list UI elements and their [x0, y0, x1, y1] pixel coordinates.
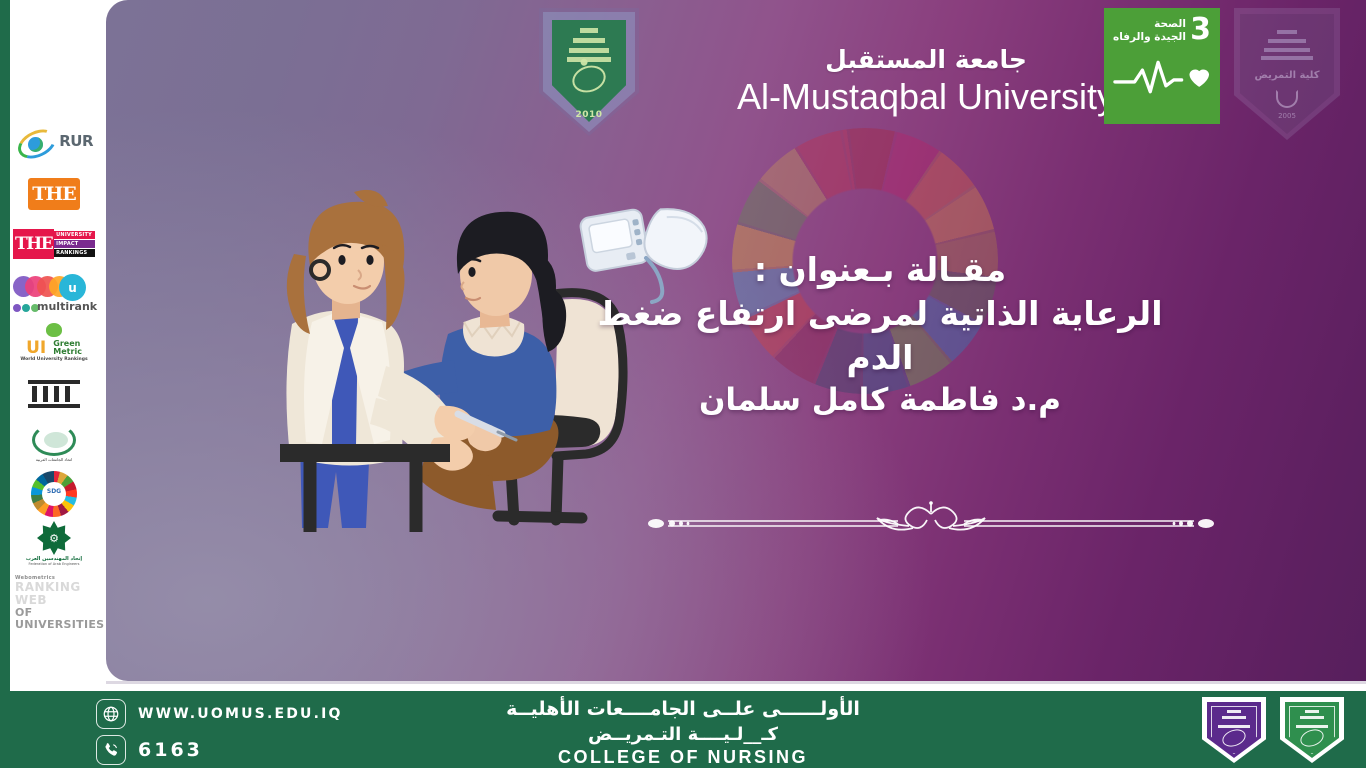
phone-icon [96, 735, 126, 765]
sidebar-logo-greenmetric[interactable]: UI Green Metric World University Ranking… [13, 322, 95, 366]
title-line-2: الرعاية الذاتية لمرضى ارتفاع ضغط الدم [570, 292, 1190, 380]
title-line-1: مقـالة بـعنوان : [570, 248, 1190, 292]
sdg3-title-line1: الصحة [1113, 18, 1186, 31]
footer-website-row[interactable]: WWW.UOMUS.EDU.IQ [96, 699, 396, 729]
footer-phone: 6163 [138, 739, 203, 761]
footer-contact-block: WWW.UOMUS.EDU.IQ 6163 [96, 699, 396, 768]
sidebar-logo-the-impact[interactable]: THE UNIVERSITY IMPACT RANKINGS [13, 222, 95, 266]
arab-union-label: اتحاد الجامعات العربية [19, 457, 89, 462]
footer-tagline: الأولــــــى علــى الجامــــعات الأهليــ… [383, 697, 983, 723]
poster-root: RUR THE THE UNIVERSITY IMPACT RANKINGS [0, 0, 1366, 768]
ziggurat-icon [1218, 710, 1250, 728]
globe-www-icon [96, 699, 126, 729]
footer-seals [1202, 697, 1344, 763]
webometrics-bot-label: OF UNIVERSITIES [15, 607, 96, 631]
the-impact-bars-icon: UNIVERSITY IMPACT RANKINGS [54, 229, 95, 259]
multirank-u-icon: u [59, 274, 86, 301]
footer-center-text: الأولــــــى علــى الجامــــعات الأهليــ… [383, 697, 983, 768]
ziggurat-icon [1261, 30, 1313, 60]
main-panel: 2010 جامعة المستقبل Al-Mustaqbal Univers… [106, 0, 1366, 681]
nursing-seal-label: كلية التمريض [1234, 70, 1340, 81]
nursing-college-seal-header: كلية التمريض 2005 [1234, 8, 1340, 140]
sidebar-logo-multirank[interactable]: u multirank [13, 272, 95, 316]
seal-year: 2010 [539, 110, 639, 120]
sdg3-number: 3 [1190, 16, 1211, 44]
sidebar-logo-arab-union[interactable]: اتحاد الجامعات العربية [13, 422, 95, 466]
footer-college-ar: كـ__لـيــــة التـمريــض [383, 723, 983, 746]
impact-line-2: IMPACT [54, 240, 95, 248]
multirank-label: multirank [37, 300, 97, 313]
greenmetric-tree-icon [46, 323, 62, 337]
left-green-spine [0, 0, 10, 691]
rur-label: RUR [59, 132, 93, 150]
ziggurat-icon [1296, 710, 1328, 728]
article-title-block: مقـالة بـعنوان : الرعاية الذاتية لمرضى ا… [570, 248, 1190, 421]
sdg3-title-line2: الجيدة والرفاه [1113, 31, 1186, 44]
arab-engineers-label-en: Federation of Arab Engineers [23, 562, 85, 566]
footer-college-en: COLLEGE OF NURSING [383, 746, 983, 768]
university-seal-footer [1280, 697, 1344, 763]
footer-phone-row[interactable]: 6163 [96, 735, 396, 765]
sidebar-logo-pillars[interactable] [13, 372, 95, 416]
sdg-wheel-label: SDG [31, 488, 77, 495]
nursing-seal-year: 2005 [1234, 112, 1340, 120]
sidebar-logo-sdg-wheel[interactable]: SDG [13, 472, 95, 516]
sidebar-logo-rur[interactable]: RUR [13, 122, 95, 166]
footer-website: WWW.UOMUS.EDU.IQ [138, 706, 343, 722]
title-line-3: م.د فاطمة كامل سلمان [570, 380, 1190, 421]
the-impact-label: THE [13, 229, 54, 259]
multirank-minidots-icon [13, 304, 39, 312]
wreath-icon [32, 424, 76, 456]
the-label: THE [32, 183, 76, 205]
university-seal: 2010 [539, 8, 639, 136]
heartbeat-ecg-icon [1113, 55, 1211, 101]
classical-pillars-icon [28, 378, 80, 410]
footer-bar: WWW.UOMUS.EDU.IQ 6163 الأولــــــى علــى… [0, 691, 1366, 768]
impact-line-3: RANKINGS [54, 249, 95, 257]
rur-globe-icon [28, 137, 43, 152]
webometrics-mid-label: RANKING WEB [15, 581, 96, 607]
greenmetric-sub-label: World University Rankings [13, 357, 95, 362]
sidebar-logo-arab-engineers[interactable]: ⚙ إتحاد المهندسين العرب Federation of Ar… [13, 522, 95, 566]
sdg-wheel-icon: SDG [31, 471, 77, 517]
the-badge-icon: THE [28, 178, 80, 210]
ornamental-divider [646, 500, 1216, 540]
sidebar-logo-webometrics[interactable]: Webometrics RANKING WEB OF UNIVERSITIES [13, 572, 95, 612]
panel-bottom-shadow [106, 681, 1366, 684]
arab-engineers-star-icon: ⚙ [37, 521, 71, 555]
greenmetric-metric-label: Metric [53, 347, 82, 356]
impact-line-1: UNIVERSITY [54, 231, 95, 239]
greenmetric-ui-label: UI [26, 341, 46, 355]
ziggurat-icon [567, 28, 611, 62]
sidebar-logo-the[interactable]: THE [13, 172, 95, 216]
sdg3-badge[interactable]: الصحة الجيدة والرفاه 3 [1104, 8, 1220, 124]
nursing-college-seal-footer [1202, 697, 1266, 763]
accreditation-sidebar: RUR THE THE UNIVERSITY IMPACT RANKINGS [10, 0, 98, 691]
